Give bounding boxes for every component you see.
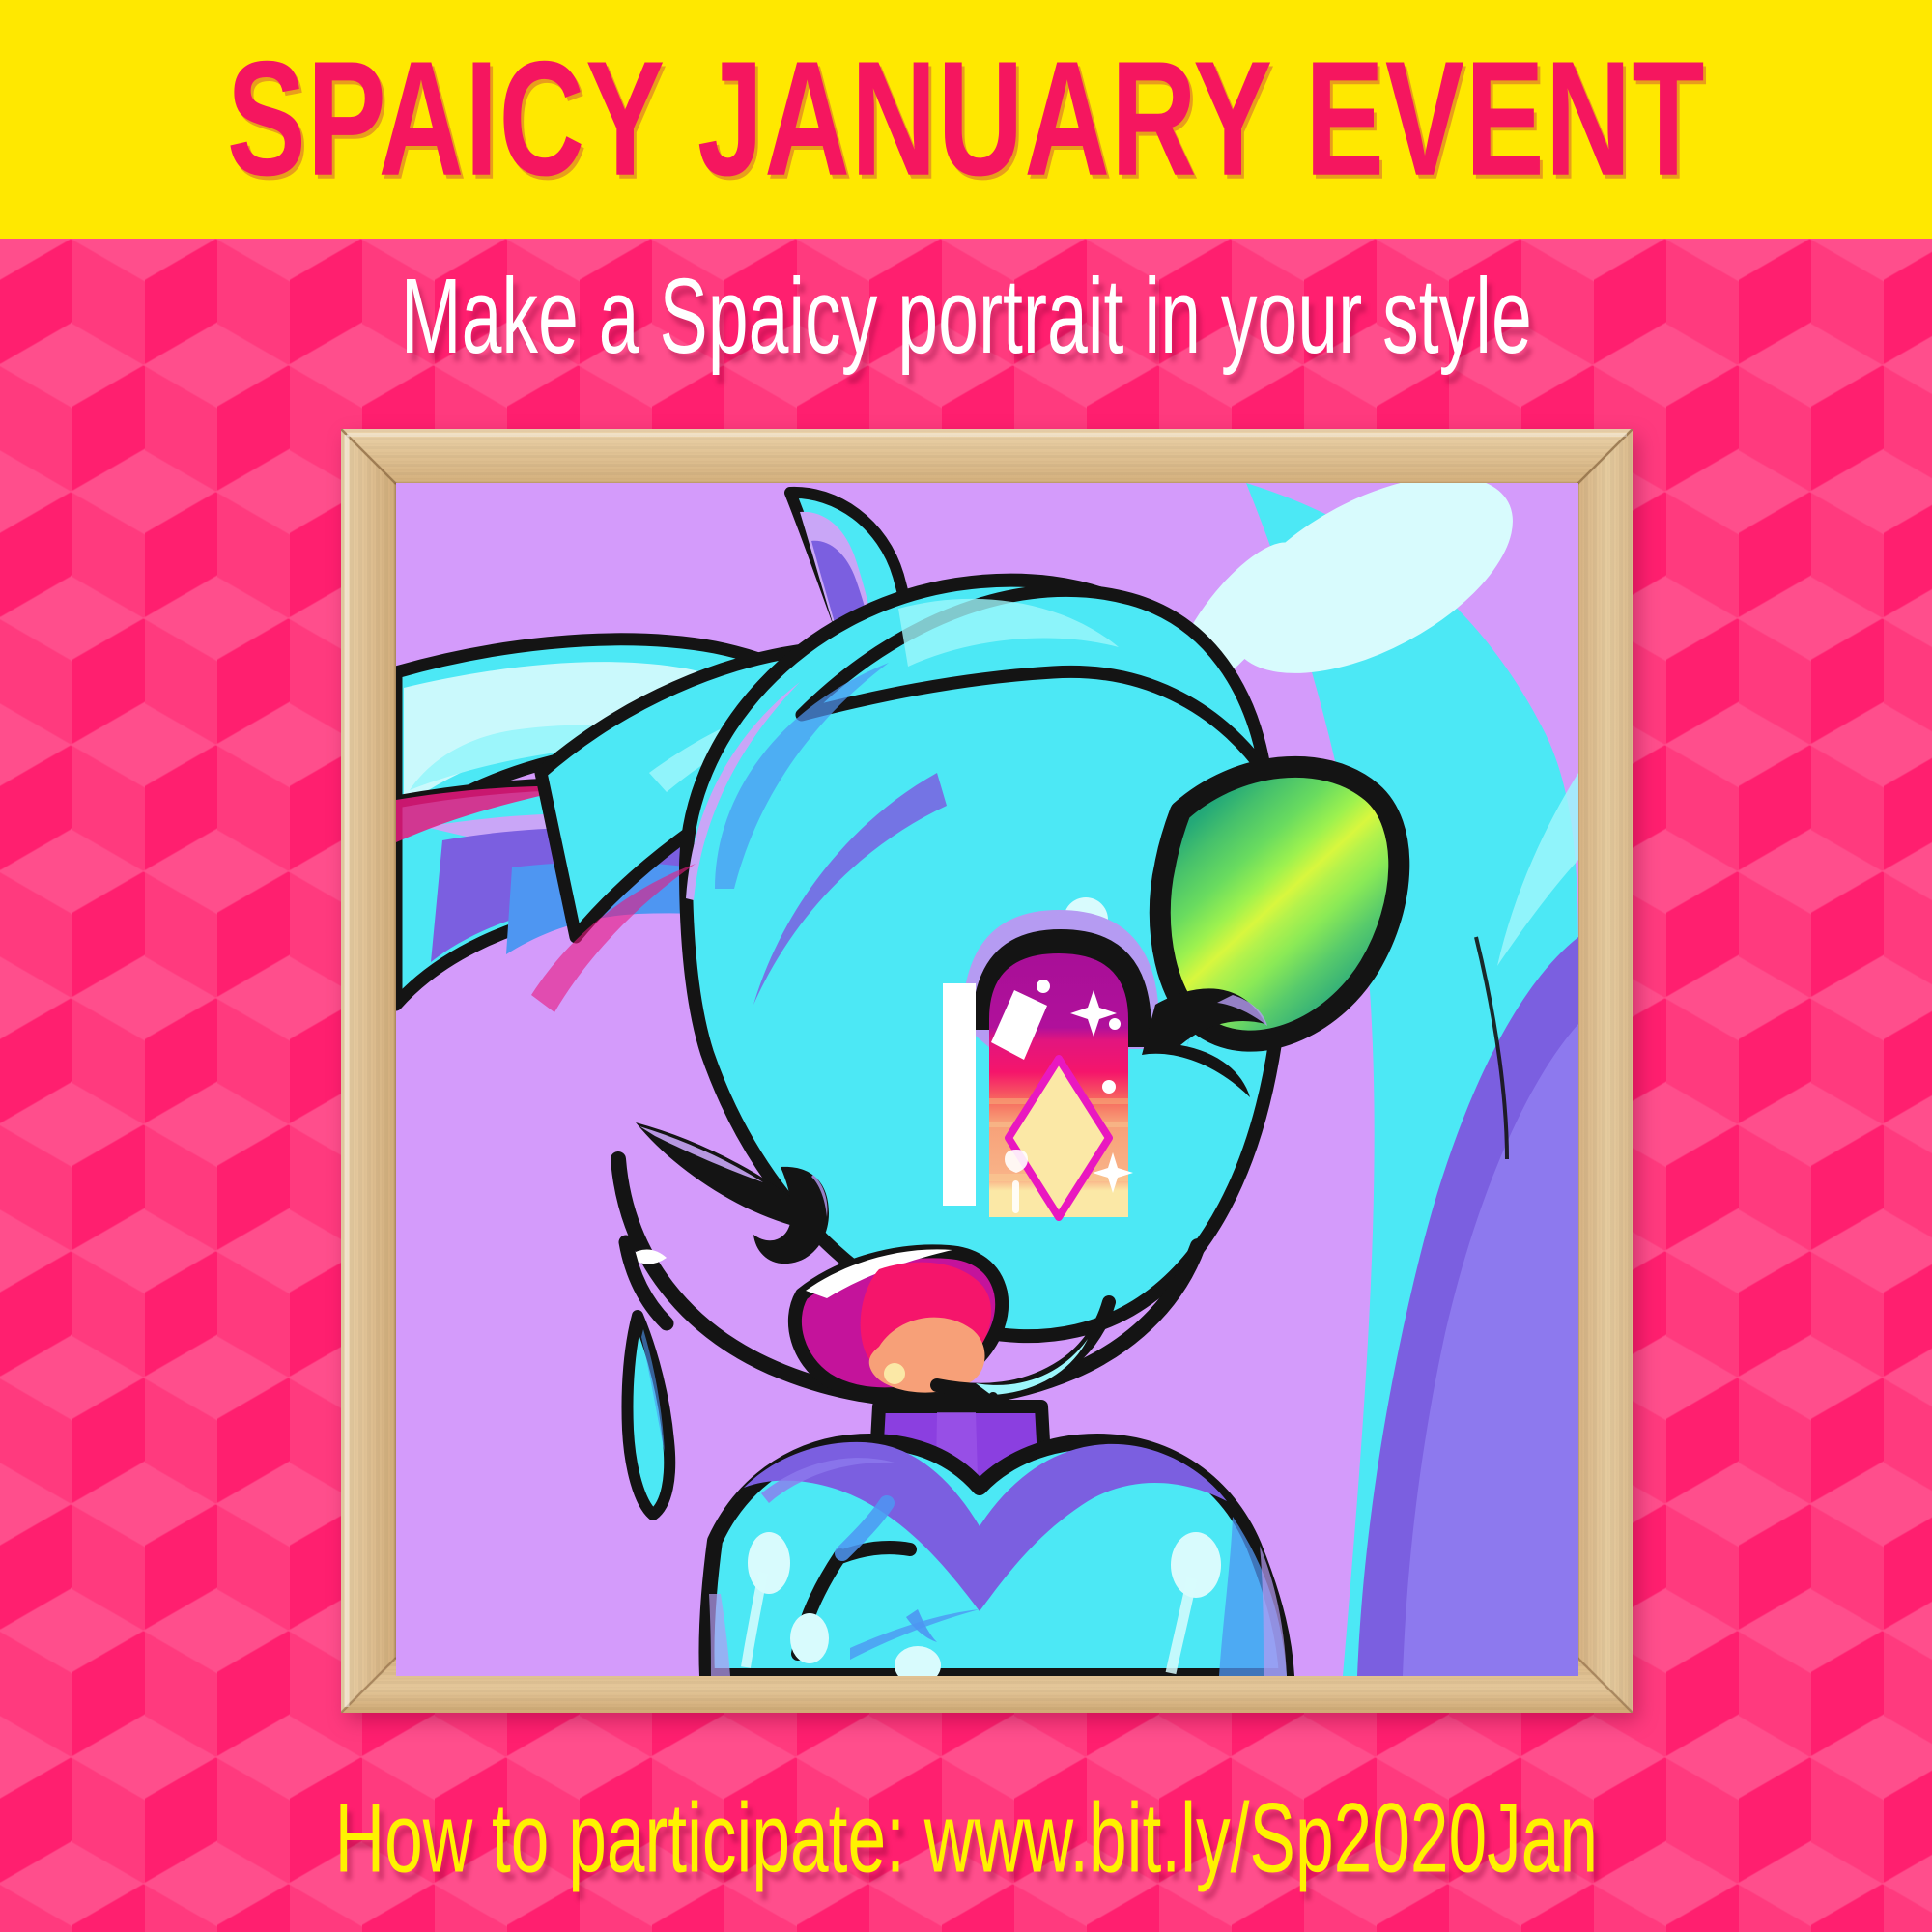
artwork-image [396,483,1578,1676]
footer-row: How to participate: www.bit.ly/Sp2020Jan [0,1785,1932,1861]
header-band: SPAICY JANUARY EVENT [0,0,1932,239]
subtitle-row: Make a Spaicy portrait in your style [0,259,1932,340]
spaicy-portrait-illustration [396,483,1578,1676]
participate-link-text[interactable]: How to participate: www.bit.ly/Sp2020Jan [334,1785,1597,1893]
page-title: SPAICY JANUARY EVENT [227,38,1706,201]
subtitle-text: Make a Spaicy portrait in your style [401,259,1532,376]
poster-canvas: SPAICY JANUARY EVENT Make a Spaicy portr… [0,0,1932,1932]
